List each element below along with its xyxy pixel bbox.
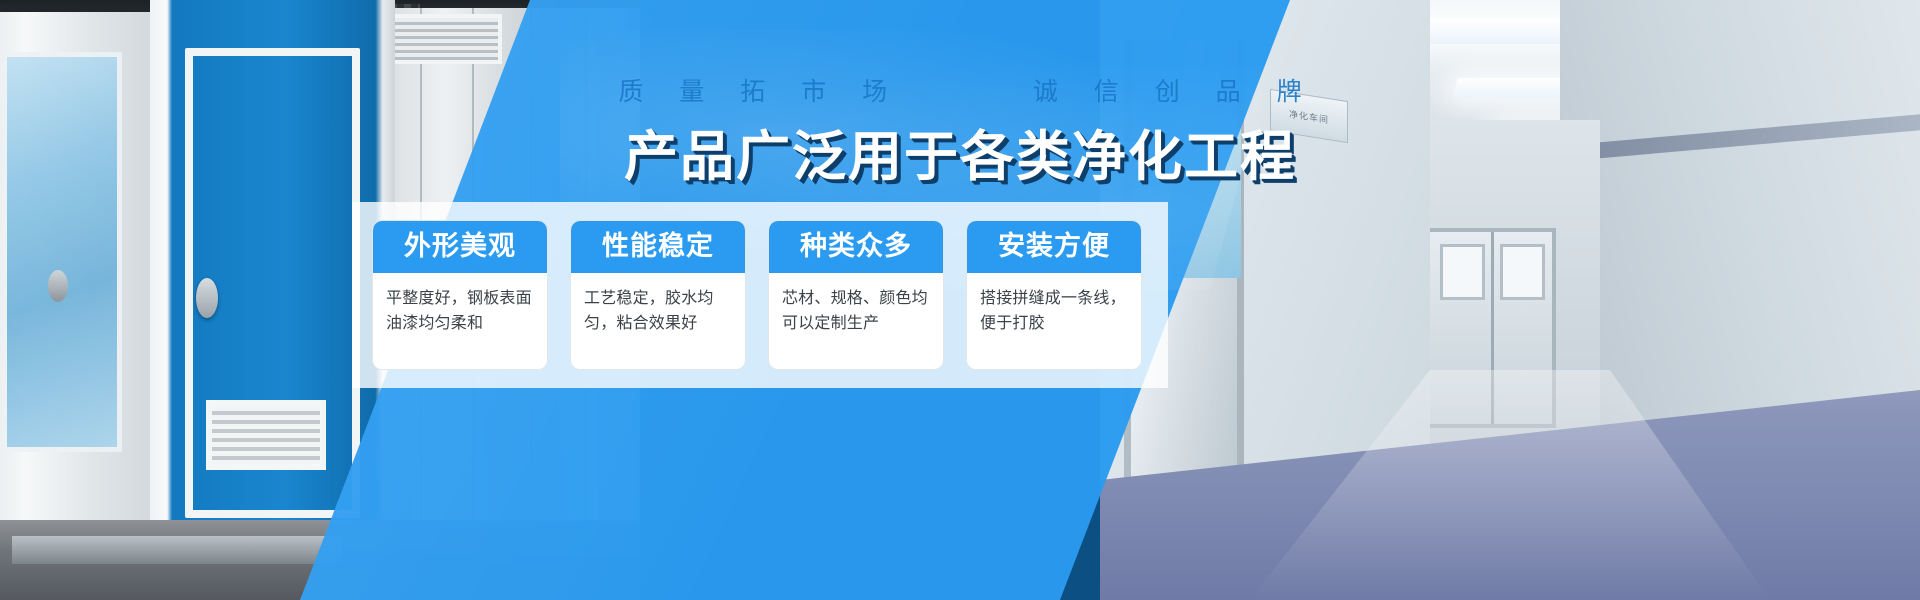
feature-card-body: 工艺稳定，胶水均匀，粘合效果好 bbox=[571, 273, 745, 349]
feature-cards-panel: 外形美观 平整度好，钢板表面油漆均匀柔和 性能稳定 工艺稳定，胶水均匀，粘合效果… bbox=[352, 202, 1168, 388]
door-vent-grille bbox=[206, 400, 326, 470]
door-handle bbox=[196, 278, 218, 318]
banner-tagline: 质 量 拓 市 场 诚 信 创 品 牌 bbox=[0, 72, 1920, 108]
banner-headline: 产品广泛用于各类净化工程 bbox=[0, 112, 1920, 191]
cabin-base bbox=[12, 536, 342, 564]
promo-banner: 净化车间 质 量 拓 市 场 诚 信 创 品 牌 产品广泛用于各类净化工程 外形… bbox=[0, 0, 1920, 600]
feature-card-body: 搭接拼缝成一条线，便于打胶 bbox=[967, 273, 1141, 349]
end-door-window bbox=[1440, 244, 1485, 300]
feature-card[interactable]: 安装方便 搭接拼缝成一条线，便于打胶 bbox=[966, 220, 1142, 370]
feature-card-title: 安装方便 bbox=[967, 221, 1141, 273]
feature-card-title: 外形美观 bbox=[373, 221, 547, 273]
feature-card[interactable]: 外形美观 平整度好，钢板表面油漆均匀柔和 bbox=[372, 220, 548, 370]
feature-card-body: 芯材、规格、颜色均可以定制生产 bbox=[769, 273, 943, 349]
feature-card[interactable]: 种类众多 芯材、规格、颜色均可以定制生产 bbox=[768, 220, 944, 370]
feature-card-title: 性能稳定 bbox=[571, 221, 745, 273]
feature-card-title: 种类众多 bbox=[769, 221, 943, 273]
cabin-lock bbox=[48, 270, 68, 302]
upper-vent-grille bbox=[382, 14, 502, 64]
feature-card-body: 平整度好，钢板表面油漆均匀柔和 bbox=[373, 273, 547, 349]
feature-card[interactable]: 性能稳定 工艺稳定，胶水均匀，粘合效果好 bbox=[570, 220, 746, 370]
